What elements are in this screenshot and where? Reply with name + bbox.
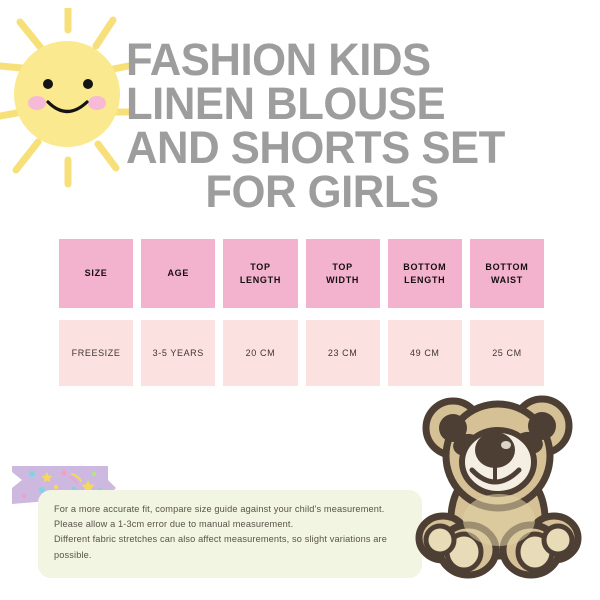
- column-header-top-length-line1: TOP: [240, 261, 281, 274]
- column-header-top-length: TOP LENGTH: [223, 239, 297, 308]
- table-row: FREESIZE 3-5 YEARS 20 CM 23 CM 49 CM 25 …: [59, 320, 544, 386]
- cell-top-width: 23 CM: [306, 320, 380, 386]
- measurement-note: For a more accurate fit, compare size gu…: [38, 490, 422, 578]
- column-header-bottom-waist-line2: WAIST: [485, 274, 528, 287]
- cell-bottom-waist: 25 CM: [470, 320, 544, 386]
- column-header-top-width: TOP WIDTH: [306, 239, 380, 308]
- title-line-1: FASHION KIDS: [126, 38, 506, 82]
- column-header-top-width-line1: TOP: [326, 261, 359, 274]
- size-chart-table: SIZE AGE TOP LENGTH TOP WIDTH: [59, 239, 544, 386]
- title-line-2: LINEN BLOUSE: [126, 82, 506, 126]
- column-header-size: SIZE: [59, 239, 133, 308]
- teddy-bear-icon: [413, 392, 600, 582]
- column-header-bottom-waist: BOTTOM WAIST: [470, 239, 544, 308]
- column-header-top-length-line2: LENGTH: [240, 274, 281, 287]
- title-line-3: AND SHORTS SET: [126, 126, 506, 170]
- column-header-bottom-waist-line1: BOTTOM: [485, 261, 528, 274]
- cell-size: FREESIZE: [59, 320, 133, 386]
- cell-age: 3-5 YEARS: [141, 320, 215, 386]
- note-line-2: Please allow a 1-3cm error due to manual…: [54, 517, 406, 532]
- column-header-bottom-length-line2: LENGTH: [403, 274, 446, 287]
- table-header-row: SIZE AGE TOP LENGTH TOP WIDTH: [59, 239, 544, 308]
- cell-top-length: 20 CM: [223, 320, 297, 386]
- page-title: FASHION KIDS LINEN BLOUSE AND SHORTS SET…: [126, 38, 518, 214]
- column-header-age-line1: AGE: [167, 267, 189, 280]
- column-header-top-width-line2: WIDTH: [326, 274, 359, 287]
- column-header-bottom-length-line1: BOTTOM: [403, 261, 446, 274]
- note-line-4: possible.: [54, 548, 406, 563]
- title-line-4: FOR GIRLS: [132, 170, 512, 214]
- column-header-age: AGE: [141, 239, 215, 308]
- column-header-bottom-length: BOTTOM LENGTH: [388, 239, 462, 308]
- note-line-3: Different fabric stretches can also affe…: [54, 532, 406, 547]
- size-chart-graphic: FASHION KIDS LINEN BLOUSE AND SHORTS SET…: [0, 0, 600, 600]
- cell-bottom-length: 49 CM: [388, 320, 462, 386]
- note-line-1: For a more accurate fit, compare size gu…: [54, 502, 406, 517]
- column-header-size-line1: SIZE: [85, 267, 108, 280]
